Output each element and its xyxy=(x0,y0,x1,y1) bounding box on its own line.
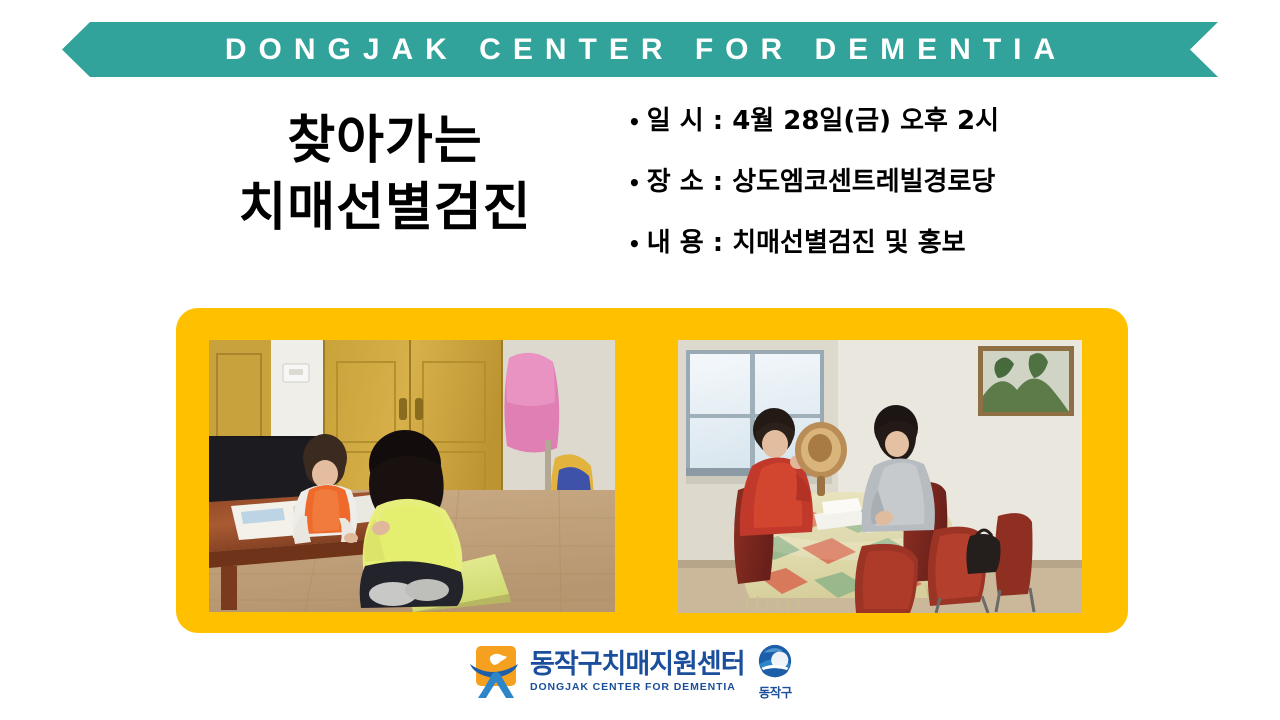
footer-logo: 동작구치매지원센터 DONGJAK CENTER FOR DEMENTIA 동작… xyxy=(466,640,796,704)
logo-wordmark: 동작구치매지원센터 DONGJAK CENTER FOR DEMENTIA xyxy=(530,651,745,693)
page-title-line-1: 찾아가는 xyxy=(150,108,620,175)
home-visit-screening-photo-graphic xyxy=(209,340,615,612)
header-title: DONGJAK CENTER FOR DEMENTIA xyxy=(213,33,1067,67)
dongjak-gu-emblem: 동작구 xyxy=(755,643,796,701)
page-title: 찾아가는 치매선별검진 xyxy=(150,108,620,241)
dongjak-gu-emblem-icon xyxy=(755,643,795,681)
senior-center-screening-photo xyxy=(678,340,1082,613)
senior-center-screening-photo-graphic xyxy=(678,340,1082,613)
dongjak-center-logo-icon xyxy=(466,644,522,700)
logo-name-korean: 동작구치매지원센터 xyxy=(530,651,745,679)
dongjak-gu-label: 동작구 xyxy=(759,682,792,701)
logo-name-english: DONGJAK CENTER FOR DEMENTIA xyxy=(530,681,745,693)
bullet-icon: • xyxy=(628,112,641,132)
slide-canvas: DONGJAK CENTER FOR DEMENTIA 찾아가는 치매선별검진 … xyxy=(0,0,1280,720)
detail-item-content: • 내 용 : 치매선별검진 및 홍보 xyxy=(628,222,1098,259)
detail-item-datetime: • 일 시 : 4월 28일(금) 오후 2시 xyxy=(628,100,1098,137)
bullet-icon: • xyxy=(628,234,641,254)
page-title-line-2: 치매선별검진 xyxy=(150,175,620,242)
detail-list: • 일 시 : 4월 28일(금) 오후 2시 • 장 소 : 상도엠코센트레빌… xyxy=(628,100,1098,283)
home-visit-screening-photo xyxy=(209,340,615,612)
bullet-icon: • xyxy=(628,173,641,193)
detail-item-content-text: 내 용 : 치매선별검진 및 홍보 xyxy=(647,222,966,259)
detail-item-location-text: 장 소 : 상도엠코센트레빌경로당 xyxy=(647,161,996,198)
detail-item-location: • 장 소 : 상도엠코센트레빌경로당 xyxy=(628,161,1098,198)
header-ribbon: DONGJAK CENTER FOR DEMENTIA xyxy=(62,22,1218,77)
detail-item-datetime-text: 일 시 : 4월 28일(금) 오후 2시 xyxy=(647,100,999,137)
